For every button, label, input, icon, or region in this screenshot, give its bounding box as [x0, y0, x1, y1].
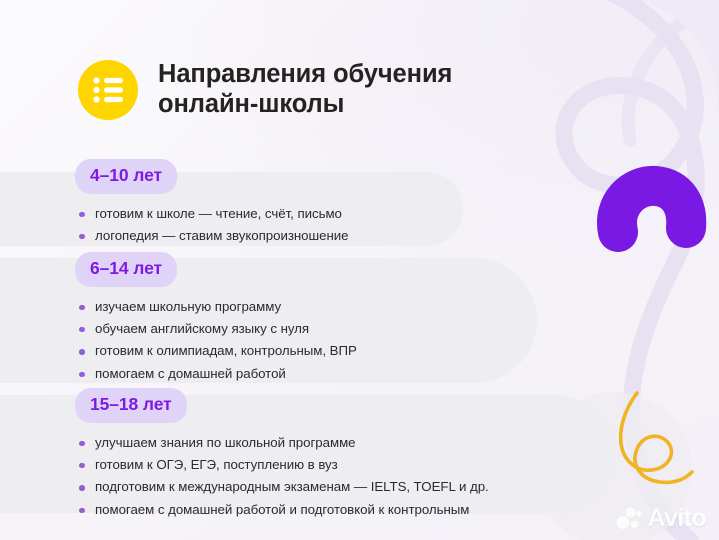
list-item: подготовим к международным экзаменам — I… [78, 476, 489, 498]
list-item: обучаем английскому языку с нуля [78, 318, 357, 340]
bulleted-list-glyph [92, 76, 124, 104]
age-badge-1: 4–10 лет [75, 159, 177, 194]
list-item: изучаем школьную программу [78, 296, 357, 318]
age-badge-2: 6–14 лет [75, 252, 177, 287]
purple-hook-shape [617, 186, 686, 232]
age-group-section-2: 6–14 лет изучаем школьную программу обуч… [75, 252, 357, 385]
list-item: помогаем с домашней работой [78, 363, 357, 385]
list-item: улучшаем знания по школьной программе [78, 432, 489, 454]
poster-canvas: Направления обучения онлайн-школы 4–10 л… [0, 0, 719, 540]
list-item: готовим к школе — чтение, счёт, письмо [78, 203, 349, 225]
feature-list-2: изучаем школьную программу обучаем англи… [75, 296, 357, 386]
page-title: Направления обучения онлайн-школы [158, 57, 452, 119]
avito-logo-icon [616, 507, 642, 531]
list-item: помогаем с домашней работой и подготовко… [78, 499, 489, 521]
avito-watermark-text: Avito [647, 506, 706, 531]
yellow-loop-squiggle [621, 393, 692, 482]
age-badge-3: 15–18 лет [75, 388, 187, 423]
feature-list-1: готовим к школе — чтение, счёт, письмо л… [75, 203, 349, 248]
age-group-section-1: 4–10 лет готовим к школе — чтение, счёт,… [75, 159, 349, 247]
bulleted-list-icon [78, 60, 138, 120]
list-item: готовим к ОГЭ, ЕГЭ, поступлению в вуз [78, 454, 489, 476]
list-item: готовим к олимпиадам, контрольным, ВПР [78, 340, 357, 362]
lavender-corner-blob [640, 0, 719, 118]
page-header: Направления обучения онлайн-школы [78, 57, 452, 120]
list-item: логопедия — ставим звукопроизношение [78, 225, 349, 247]
feature-list-3: улучшаем знания по школьной программе го… [75, 432, 489, 522]
avito-watermark: Avito [616, 506, 706, 531]
age-group-section-3: 15–18 лет улучшаем знания по школьной пр… [75, 388, 489, 521]
